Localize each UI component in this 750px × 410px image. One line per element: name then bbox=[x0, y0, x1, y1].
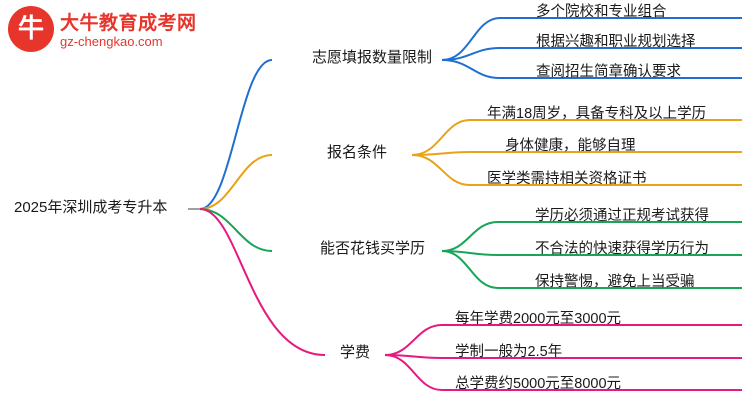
bull-logo-glyph: 牛 bbox=[8, 6, 54, 52]
leaf-label-4-2: 学制一般为2.5年 bbox=[455, 343, 562, 361]
logo-title: 大牛教育成考网 bbox=[60, 8, 197, 35]
leaf-label-2-1: 年满18周岁，具备专科及以上学历 bbox=[487, 105, 706, 123]
site-logo: 牛 大牛教育成考网 gz-chengkao.com bbox=[8, 6, 198, 58]
branch-label-3: 能否花钱买学历 bbox=[320, 240, 425, 258]
mindmap-root-label: 2025年深圳成考专升本 bbox=[14, 199, 167, 217]
leaf-label-1-3: 查阅招生简章确认要求 bbox=[536, 63, 681, 81]
leaf-label-1-1: 多个院校和专业组合 bbox=[536, 3, 667, 21]
leaf-label-4-1: 每年学费2000元至3000元 bbox=[455, 310, 621, 328]
bull-logo-icon: 牛 bbox=[8, 6, 54, 52]
leaf-label-2-2: 身体健康，能够自理 bbox=[505, 137, 636, 155]
branch-label-4: 学费 bbox=[340, 344, 370, 362]
leaf-label-3-3: 保持警惕，避免上当受骗 bbox=[535, 273, 695, 291]
leaf-label-3-2: 不合法的快速获得学历行为 bbox=[535, 240, 709, 258]
leaf-label-4-3: 总学费约5000元至8000元 bbox=[455, 375, 621, 393]
leaf-label-3-1: 学历必须通过正规考试获得 bbox=[535, 207, 709, 225]
branch-label-1: 志愿填报数量限制 bbox=[312, 49, 432, 67]
mindmap-canvas: 牛 大牛教育成考网 gz-chengkao.com bbox=[0, 0, 750, 410]
leaf-label-2-3: 医学类需持相关资格证书 bbox=[487, 170, 647, 188]
leaf-label-1-2: 根据兴趣和职业规划选择 bbox=[536, 33, 696, 51]
branch-label-2: 报名条件 bbox=[327, 144, 387, 162]
logo-subtitle: gz-chengkao.com bbox=[60, 34, 163, 49]
